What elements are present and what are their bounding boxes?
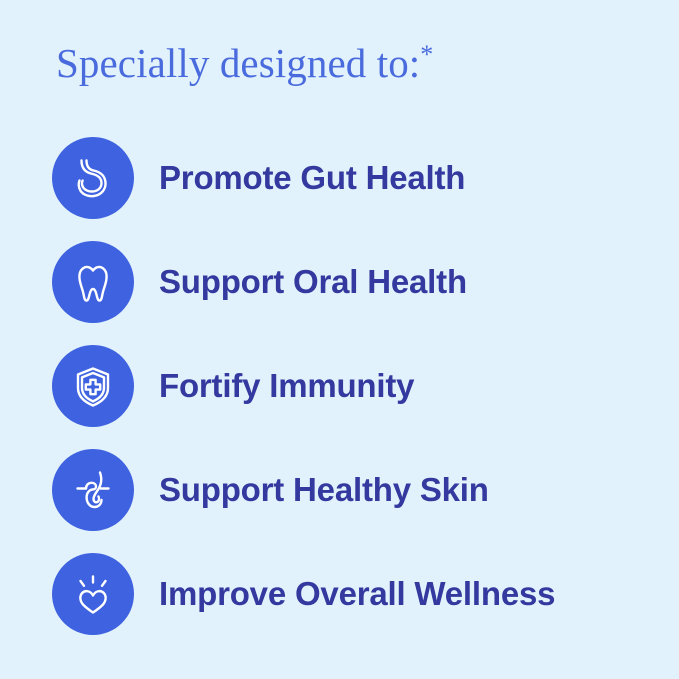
stomach-icon: [67, 152, 119, 204]
benefit-label: Promote Gut Health: [159, 159, 465, 197]
shield-cross-icon-badge: [52, 345, 134, 427]
hair-follicle-skin-icon-badge: [52, 449, 134, 531]
benefits-panel: Specially designed to:* Promote Gut Heal…: [0, 0, 679, 679]
list-item: Improve Overall Wellness: [0, 542, 679, 646]
footnote-asterisk: *: [420, 40, 433, 69]
page-title: Specially designed to:*: [56, 40, 433, 87]
benefit-label: Support Healthy Skin: [159, 471, 489, 509]
benefit-label: Fortify Immunity: [159, 367, 414, 405]
list-item: Support Oral Health: [0, 230, 679, 334]
benefit-list: Promote Gut Health Support Oral Health: [0, 126, 679, 646]
benefit-label: Support Oral Health: [159, 263, 467, 301]
list-item: Support Healthy Skin: [0, 438, 679, 542]
shield-cross-icon: [67, 360, 119, 412]
hair-follicle-skin-icon: [67, 464, 119, 516]
list-item: Promote Gut Health: [0, 126, 679, 230]
benefit-label: Improve Overall Wellness: [159, 575, 555, 613]
tooth-icon-badge: [52, 241, 134, 323]
shining-heart-icon-badge: [52, 553, 134, 635]
shining-heart-icon: [67, 568, 119, 620]
list-item: Fortify Immunity: [0, 334, 679, 438]
stomach-icon-badge: [52, 137, 134, 219]
tooth-icon: [67, 256, 119, 308]
page-title-text: Specially designed to:: [56, 40, 420, 86]
